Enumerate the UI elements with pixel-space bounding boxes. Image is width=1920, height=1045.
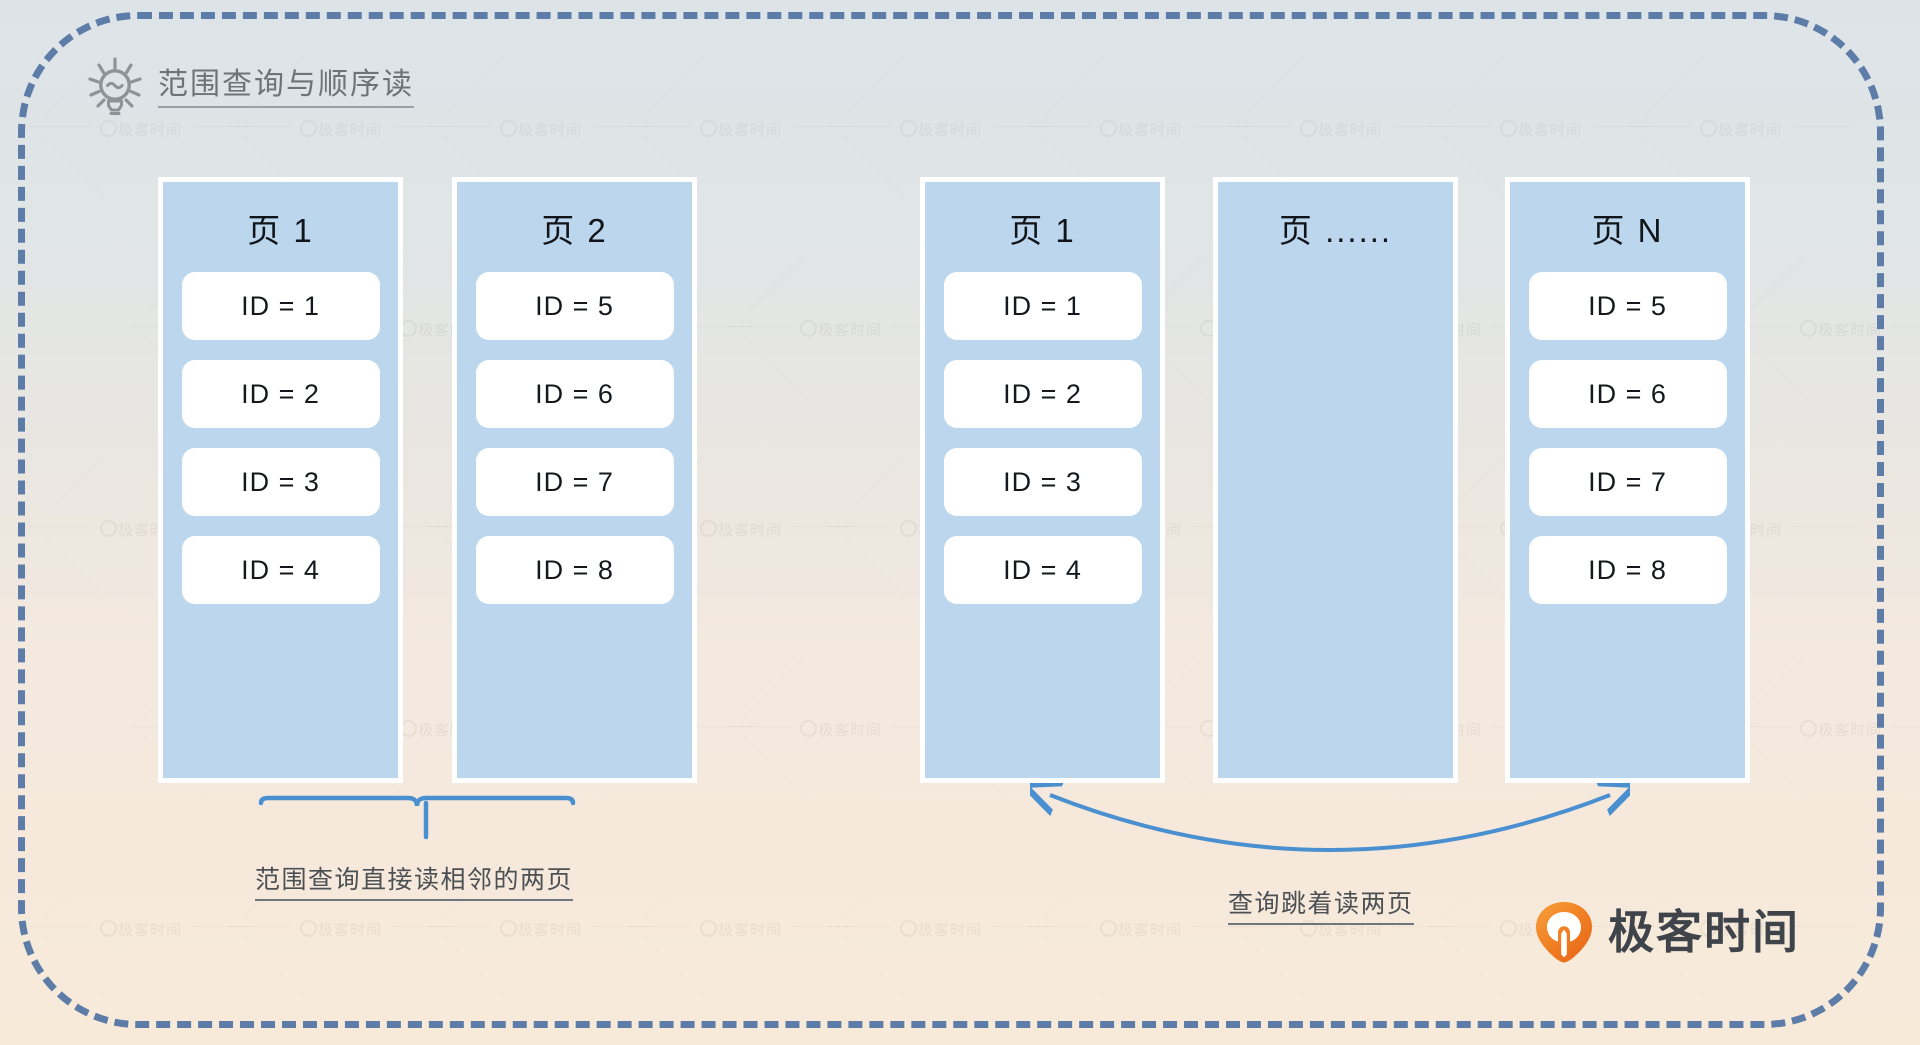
page-column-left-2[interactable]: 页 2 ID = 5 ID = 6 ID = 7 ID = 8 xyxy=(452,177,697,783)
id-card[interactable]: ID = 6 xyxy=(1529,360,1727,428)
diagram-canvas: 极客时间极客时间极客时间极客时间极客时间极客时间极客时间极客时间极客时间极客时间… xyxy=(0,0,1920,1045)
id-card[interactable]: ID = 3 xyxy=(182,448,380,516)
id-card[interactable]: ID = 6 xyxy=(476,360,674,428)
page-column-title: 页 1 xyxy=(247,204,314,252)
id-card[interactable]: ID = 1 xyxy=(944,272,1142,340)
page-column-right-n[interactable]: 页 N ID = 5 ID = 6 ID = 7 ID = 8 xyxy=(1505,177,1750,783)
annotation-label-random: 查询跳着读两页 xyxy=(1228,884,1414,925)
page-column-title: 页 1 xyxy=(1009,204,1076,252)
annotation-label-sequential: 范围查询直接读相邻的两页 xyxy=(255,860,573,901)
watermark-dotted-line xyxy=(1892,326,1920,327)
id-card[interactable]: ID = 8 xyxy=(1529,536,1727,604)
page-column-title: 页 ...... xyxy=(1279,204,1392,252)
jump-read-arrow xyxy=(1030,783,1630,893)
id-card[interactable]: ID = 8 xyxy=(476,536,674,604)
id-card[interactable]: ID = 4 xyxy=(182,536,380,604)
id-card[interactable]: ID = 5 xyxy=(1529,272,1727,340)
id-card[interactable]: ID = 2 xyxy=(944,360,1142,428)
diagram-header: 范围查询与顺序读 xyxy=(86,57,414,119)
id-card[interactable]: ID = 1 xyxy=(182,272,380,340)
id-card[interactable]: ID = 3 xyxy=(944,448,1142,516)
geektime-logo-text: 极客时间 xyxy=(1608,909,1800,955)
page-column-left-1[interactable]: 页 1 ID = 1 ID = 2 ID = 3 ID = 4 xyxy=(158,177,403,783)
id-card[interactable]: ID = 7 xyxy=(476,448,674,516)
range-bracket xyxy=(255,793,585,863)
id-card[interactable]: ID = 5 xyxy=(476,272,674,340)
geektime-mark-icon xyxy=(1532,900,1596,964)
lightbulb-icon xyxy=(86,57,144,119)
page-column-right-1[interactable]: 页 1 ID = 1 ID = 2 ID = 3 ID = 4 xyxy=(920,177,1165,783)
id-card[interactable]: ID = 7 xyxy=(1529,448,1727,516)
page-title: 范围查询与顺序读 xyxy=(158,68,414,108)
id-card[interactable]: ID = 2 xyxy=(182,360,380,428)
id-card[interactable]: ID = 4 xyxy=(944,536,1142,604)
page-column-title: 页 2 xyxy=(541,204,608,252)
page-column-title: 页 N xyxy=(1592,204,1664,252)
geektime-logo: 极客时间 xyxy=(1532,900,1800,964)
page-column-right-ellipsis[interactable]: 页 ...... xyxy=(1213,177,1458,783)
watermark-dotted-line xyxy=(1892,726,1920,727)
